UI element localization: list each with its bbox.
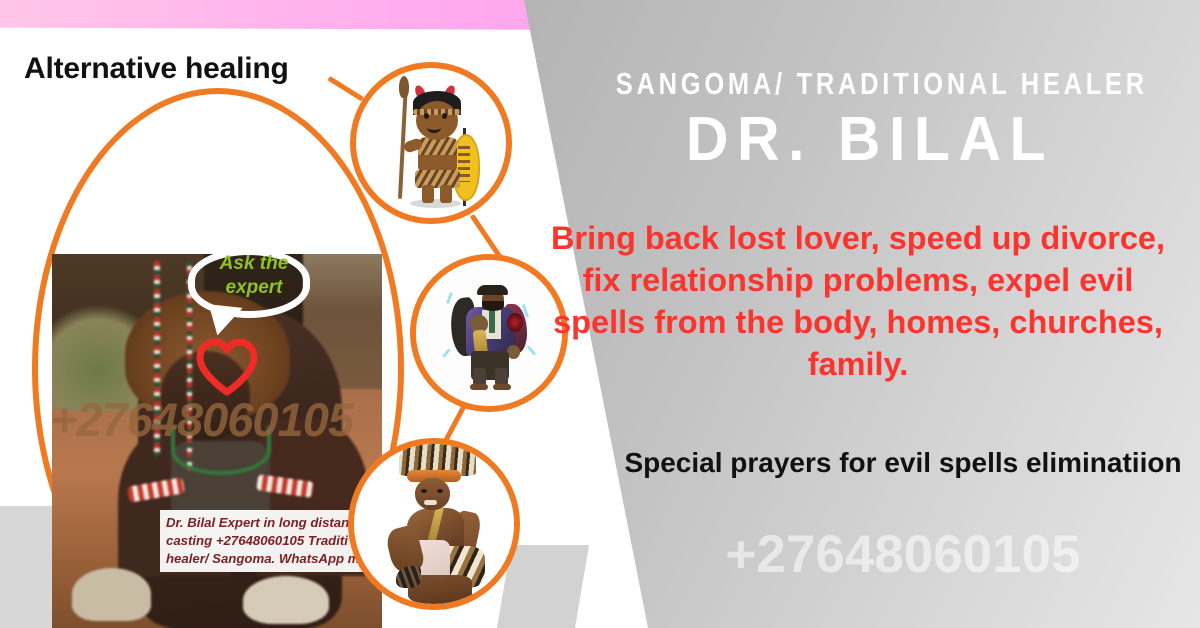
warrior-head bbox=[416, 101, 458, 140]
coat-leg-left bbox=[473, 368, 486, 386]
crouching-eye-right bbox=[437, 489, 443, 493]
coat-shoe-right bbox=[493, 384, 511, 390]
shield-pattern bbox=[458, 146, 470, 182]
coat-tie bbox=[489, 310, 495, 333]
page-title: Alternative healing bbox=[24, 52, 289, 86]
caption-line-1: Dr. Bilal Expert in long distan bbox=[166, 514, 370, 532]
crouching-mouth bbox=[424, 500, 437, 505]
circle-crouching-warrior bbox=[348, 438, 520, 610]
speech-bubble-text: Ask the expert bbox=[198, 252, 310, 300]
coat-hat bbox=[477, 285, 508, 295]
top-pink-band bbox=[0, 0, 600, 30]
warrior-leg-left bbox=[422, 185, 434, 203]
photo-caption: Dr. Bilal Expert in long distan casting … bbox=[160, 510, 376, 572]
subtitle-profession: SANGOMA/ TRADITIONAL HEALER bbox=[616, 66, 1124, 102]
services-text: Bring back lost lover, speed up divorce,… bbox=[534, 218, 1182, 386]
warrior-skirt bbox=[415, 170, 460, 188]
contact-watermark-phone: +27648060105 bbox=[620, 524, 1186, 585]
warrior-eye-right bbox=[442, 113, 447, 119]
warrior-headband bbox=[413, 109, 461, 115]
coat-beard bbox=[482, 301, 504, 311]
warrior-smile bbox=[427, 122, 441, 133]
coat-shoe-left bbox=[470, 384, 488, 390]
warrior-leg-right bbox=[440, 185, 452, 203]
circle-cartoon-zulu-warrior bbox=[350, 62, 512, 224]
heart-icon bbox=[196, 338, 258, 396]
caption-line-2: casting +27648060105 Traditi bbox=[166, 532, 370, 550]
warrior-eye-left bbox=[424, 113, 429, 119]
coat-red-emblem bbox=[507, 313, 523, 332]
spear-shaft bbox=[398, 81, 408, 198]
spear-head bbox=[399, 76, 409, 98]
crouching-warrior-illustration bbox=[354, 444, 514, 604]
photo-watermark-phone: +27648060105 bbox=[50, 392, 470, 447]
crouching-eye-left bbox=[421, 489, 427, 493]
cartoon-zulu-warrior-illustration bbox=[356, 68, 506, 218]
special-offer-text: Special prayers for evil spells eliminat… bbox=[620, 444, 1186, 482]
bottom-left-gray-block bbox=[0, 506, 52, 628]
poster-root: Alternative healing Ask the expert bbox=[0, 0, 1200, 628]
caption-line-3: healer/ Sangoma. WhatsApp m bbox=[166, 550, 370, 568]
warrior-shadow bbox=[410, 199, 461, 208]
healer-name: DR. BILAL bbox=[576, 104, 1165, 175]
coat-leg-right bbox=[495, 368, 508, 386]
